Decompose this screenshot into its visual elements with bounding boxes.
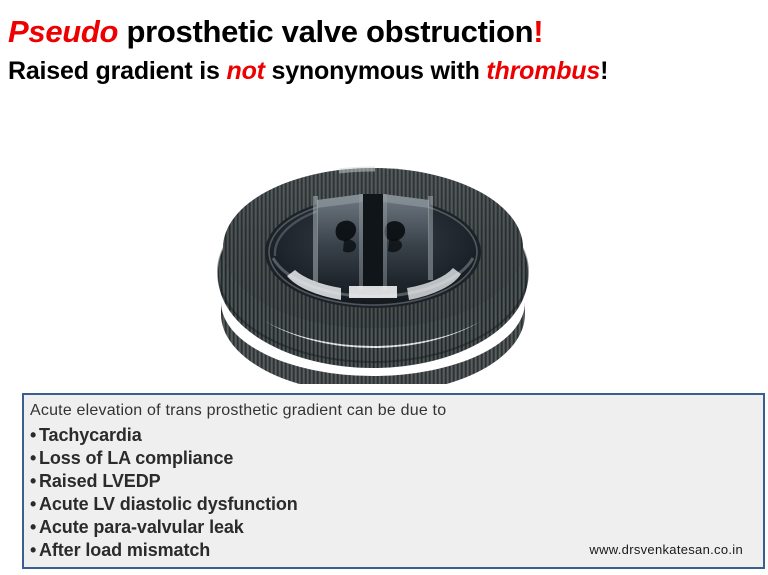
list-item-label: Acute para-valvular leak [39,517,244,537]
title-line-1-main: prosthetic valve obstruction [118,14,533,49]
title-line-2-exclamation: ! [600,57,608,85]
list-item-label: Tachycardia [39,425,142,445]
bullet-icon: • [30,447,39,470]
list-item-label: After load mismatch [39,540,210,560]
title-emphasis-pseudo: Pseudo [8,14,118,49]
title-emphasis-not: not [227,57,265,85]
list-item: •Tachycardia [30,424,763,447]
bullet-icon: • [30,424,39,447]
title-line-1: Pseudo prosthetic valve obstruction! [8,14,764,51]
source-website-url: www.drsvenkatesan.co.in [589,542,743,557]
bullet-icon: • [30,470,39,493]
list-item: •Acute LV diastolic dysfunction [30,493,763,516]
slide-title: Pseudo prosthetic valve obstruction! Rai… [8,14,764,87]
title-line-1-exclamation: ! [533,14,543,49]
slide-canvas: Pseudo prosthetic valve obstruction! Rai… [0,0,768,575]
list-item-label: Loss of LA compliance [39,448,233,468]
title-line-2-part-2: synonymous with [265,57,487,85]
prosthetic-valve-image [213,152,533,384]
list-item: •Loss of LA compliance [30,447,763,470]
bullet-icon: • [30,539,39,562]
bullet-icon: • [30,516,39,539]
list-item: •Acute para-valvular leak [30,516,763,539]
list-item: •Raised LVEDP [30,470,763,493]
list-item-label: Acute LV diastolic dysfunction [39,494,298,514]
bullet-icon: • [30,493,39,516]
list-item-label: Raised LVEDP [39,471,161,491]
causes-info-box: Acute elevation of trans prosthetic grad… [22,393,765,569]
info-box-lead-text: Acute elevation of trans prosthetic grad… [30,400,763,422]
title-emphasis-thrombus: thrombus [486,57,600,85]
title-line-2-part-1: Raised gradient is [8,57,227,85]
title-line-2: Raised gradient is not synonymous with t… [8,56,764,87]
